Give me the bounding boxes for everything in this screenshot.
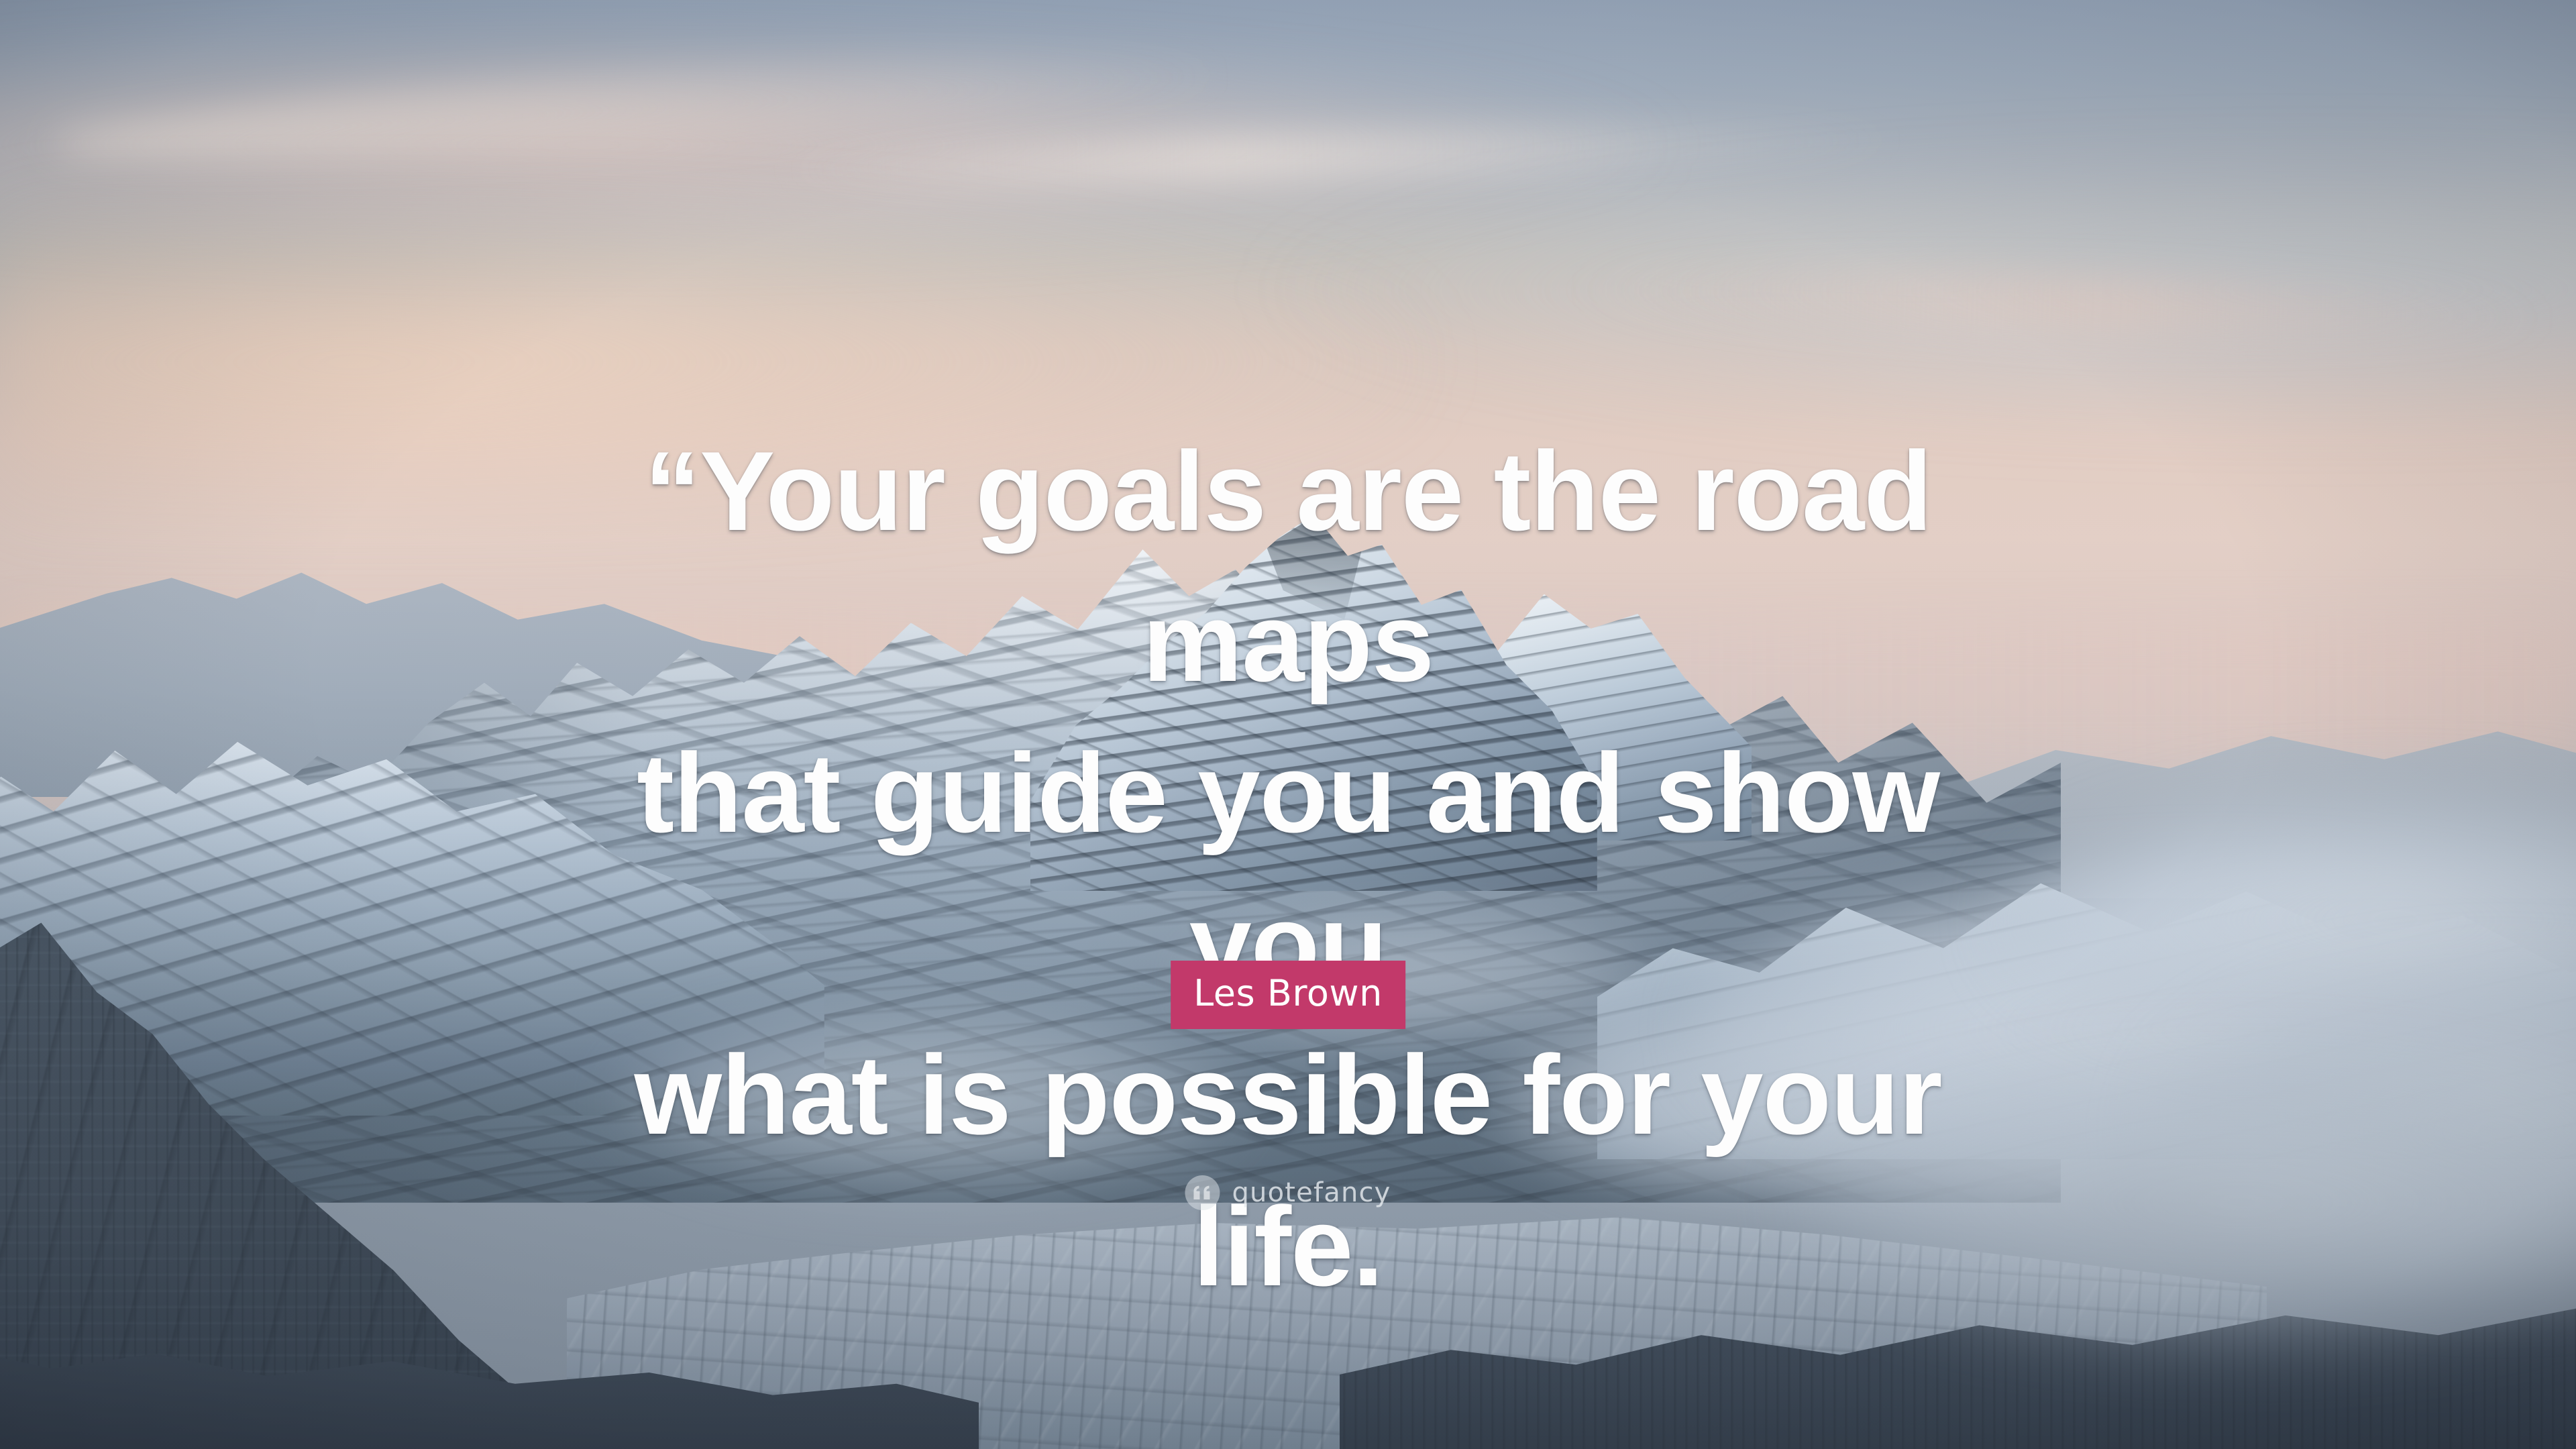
cloud-wisp-center [1185, 913, 1648, 1043]
quote-poster: “Your goals are the road maps that guide… [0, 0, 2576, 1449]
sky-glow-lower-left [0, 203, 1417, 521]
background-photo [0, 0, 2576, 1449]
cloud-bank-center-left [619, 1014, 1237, 1188]
